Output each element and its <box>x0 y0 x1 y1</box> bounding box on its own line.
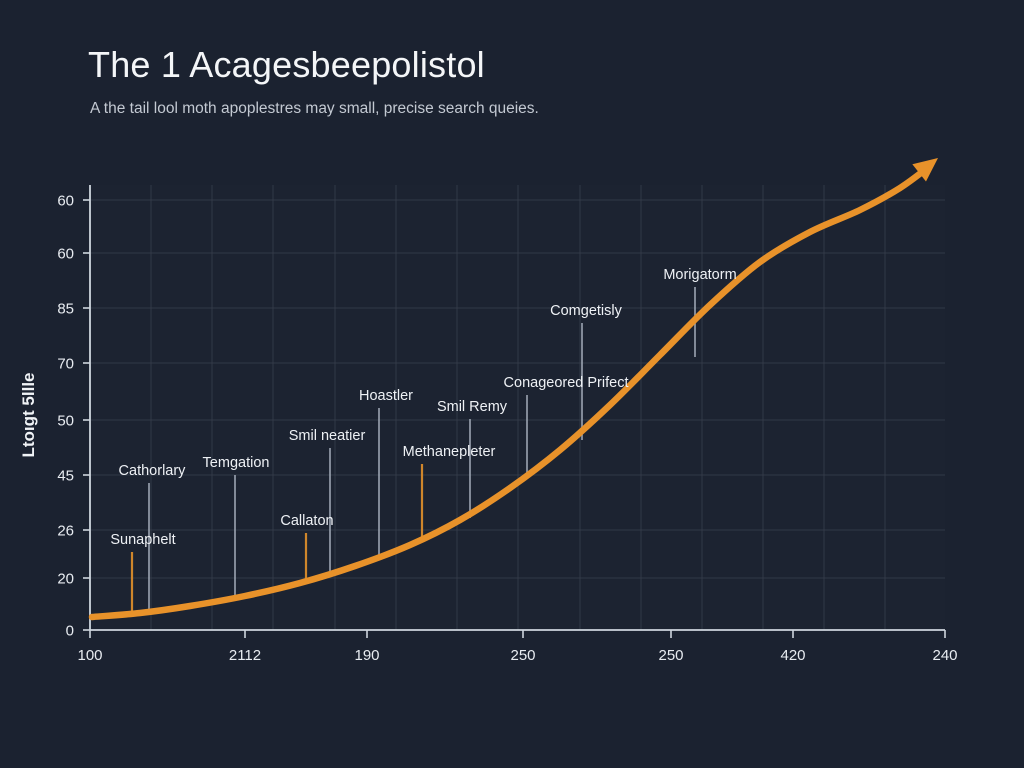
chart-plot-area: 60608570504526200 1002112190250250420240… <box>0 0 1024 768</box>
annotation-label: Cathorlary <box>119 463 187 479</box>
x-tick-label: 250 <box>510 647 535 664</box>
y-tick-label: 20 <box>57 571 74 588</box>
annotation-label: Callaton <box>280 513 333 529</box>
y-axis-ticks: 60608570504526200 <box>57 193 90 640</box>
y-tick-label: 70 <box>57 356 74 373</box>
annotation-label: Temgation <box>203 455 270 471</box>
y-tick-label: 26 <box>57 523 74 540</box>
annotation-label: Methanepleter <box>403 444 496 460</box>
x-tick-label: 420 <box>780 647 805 664</box>
x-tick-label: 240 <box>932 647 957 664</box>
x-tick-label: 2112 <box>229 647 261 664</box>
chart-page: The 1 Acagesbeepolistol A the tail lool … <box>0 0 1024 768</box>
x-axis-ticks: 1002112190250250420240 <box>77 630 957 664</box>
y-tick-label: 0 <box>66 623 74 640</box>
annotation-label: Conageored Prifect <box>504 375 629 391</box>
y-tick-label: 45 <box>57 468 74 485</box>
annotation-label: Smil Remy <box>437 399 508 415</box>
grid-lines <box>90 185 945 630</box>
y-axis-title: Ltoıgt 5llle <box>19 373 38 458</box>
annotation-label: Comgetisly <box>550 303 622 319</box>
x-tick-label: 190 <box>354 647 379 664</box>
annotation-label: Hoastler <box>359 388 413 404</box>
line-chart-svg: 60608570504526200 1002112190250250420240… <box>0 0 1024 768</box>
y-tick-label: 60 <box>57 193 74 210</box>
x-tick-label: 250 <box>658 647 683 664</box>
y-axis-title-text: Ltoıgt 5llle <box>19 373 38 458</box>
y-tick-label: 60 <box>57 246 74 263</box>
x-tick-label: 100 <box>77 647 102 664</box>
annotation-label: Sunaphelt <box>110 532 175 548</box>
annotation-label: Morigatorm <box>663 267 736 283</box>
annotation-label: Smil neatier <box>289 428 366 444</box>
y-tick-label: 85 <box>57 301 74 318</box>
y-tick-label: 50 <box>57 413 74 430</box>
